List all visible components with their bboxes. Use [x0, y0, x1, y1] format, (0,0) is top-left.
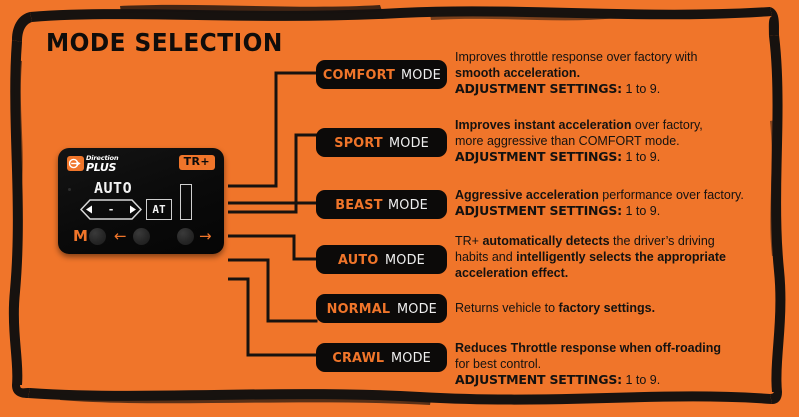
logo-plus-text: PLUS [86, 162, 140, 173]
right-arrow-icon: → [199, 227, 212, 245]
direction-plus-logo: Direction PLUS [67, 154, 139, 174]
tr-plus-badge: TR+ [179, 155, 215, 170]
mode-pill-normal[interactable]: NORMAL MODE [316, 294, 447, 323]
adjustment-settings-value: 1 to 9. [622, 373, 660, 387]
device-screen: AUTO - AT [80, 181, 202, 223]
adjustment-settings-label: ADJUSTMENT SETTINGS: [455, 203, 622, 218]
throttle-controller-device: Direction PLUS TR+ AUTO - AT M [58, 148, 224, 254]
mode-name: CRAWL [333, 351, 385, 365]
device-led-indicator [68, 188, 71, 191]
mode-description-comfort: Improves throttle response over factory … [455, 49, 785, 98]
mode-suffix: MODE [385, 253, 425, 267]
mode-suffix: MODE [402, 68, 442, 82]
mode-pill-sport[interactable]: SPORT MODE [316, 128, 447, 157]
screen-mode-text: AUTO [94, 181, 132, 196]
mode-name: SPORT [334, 136, 383, 150]
screen-level-value: - [80, 199, 142, 220]
mode-name: AUTO [338, 253, 378, 267]
device-button-left[interactable] [133, 228, 150, 245]
mode-suffix: MODE [391, 351, 431, 365]
screen-level-hexagon: - [80, 199, 142, 220]
device-button-row: M ← → [58, 226, 224, 248]
adjustment-settings-value: 1 to 9. [622, 204, 660, 218]
device-button-right[interactable] [177, 228, 194, 245]
adjustment-settings-value: 1 to 9. [622, 150, 660, 164]
mode-pill-comfort[interactable]: COMFORT MODE [316, 60, 447, 89]
connector-lines [228, 55, 318, 365]
mode-suffix: MODE [389, 136, 429, 150]
mode-description-auto: TR+ automatically detects the driver’s d… [455, 233, 785, 282]
logo-direction-text: Direction [86, 154, 141, 162]
mode-description-crawl: Reduces Throttle response when off-roadi… [455, 340, 785, 389]
adjustment-settings-label: ADJUSTMENT SETTINGS: [455, 372, 622, 387]
mode-pill-auto[interactable]: AUTO MODE [316, 245, 447, 274]
mode-description-sport: Improves instant acceleration over facto… [455, 117, 785, 166]
adjustment-settings-label: ADJUSTMENT SETTINGS: [455, 81, 622, 96]
logo-wordmark: Direction PLUS [86, 154, 140, 173]
mode-pill-beast[interactable]: BEAST MODE [316, 190, 447, 219]
page-title: MODE SELECTION [46, 28, 283, 57]
mode-name: BEAST [335, 198, 382, 212]
mode-suffix: MODE [397, 302, 437, 316]
mode-pill-crawl[interactable]: CRAWL MODE [316, 343, 447, 372]
mode-suffix: MODE [389, 198, 429, 212]
mode-selection-poster: MODE SELECTION Direction PLUS TR+ [0, 0, 799, 417]
mode-description-beast: Aggressive acceleration performance over… [455, 187, 785, 219]
screen-at-indicator: AT [146, 199, 172, 220]
screen-level-bar [180, 184, 192, 220]
device-button-m[interactable] [89, 228, 106, 245]
mode-name: COMFORT [322, 68, 394, 82]
device-m-label: M [73, 227, 88, 245]
arrow-circle-icon [67, 156, 84, 171]
device-top-bar: Direction PLUS TR+ [58, 148, 224, 178]
mode-name: NORMAL [327, 302, 391, 316]
left-arrow-icon: ← [114, 227, 127, 245]
mode-description-normal: Returns vehicle to factory settings. [455, 300, 785, 316]
adjustment-settings-value: 1 to 9. [622, 82, 660, 96]
adjustment-settings-label: ADJUSTMENT SETTINGS: [455, 149, 622, 164]
